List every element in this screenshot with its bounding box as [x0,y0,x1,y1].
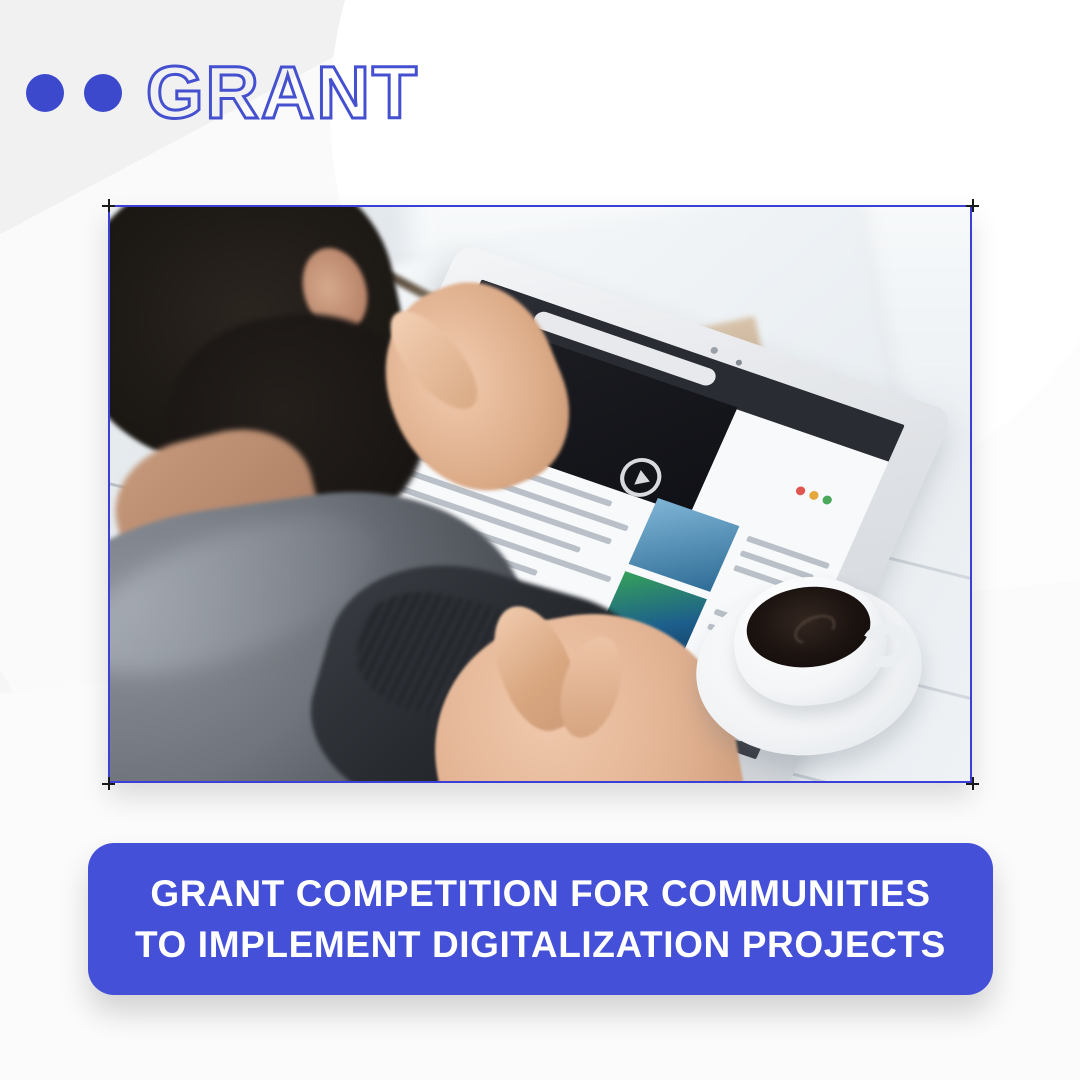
logo-dot-icon [26,74,64,112]
resize-handle-top-left[interactable] [102,199,115,212]
coffee-liquid [743,581,875,674]
logo-dots-icon [26,74,122,112]
coffee-swirl [789,609,840,651]
photo-image[interactable] [108,205,972,783]
resize-handle-top-right[interactable] [966,199,979,212]
headline-line-1: GRANT COMPETITION FOR COMMUNITIES [150,870,930,917]
photo-frame[interactable] [108,205,972,783]
play-icon [614,453,668,503]
tablet-camera-icon [709,346,718,355]
logo-wordmark: GRANT [146,56,419,130]
headline-line-2: TO IMPLEMENT DIGITALIZATION PROJECTS [135,921,946,968]
resize-handle-bottom-right[interactable] [966,777,979,790]
resize-handle-bottom-left[interactable] [102,777,115,790]
photo-scene [108,205,972,783]
brand-logo[interactable]: GRANT [26,56,419,130]
headline-banner[interactable]: GRANT COMPETITION FOR COMMUNITIES TO IMP… [88,843,993,995]
screen-text-line [746,536,830,570]
tablet-sensor-icon [735,359,743,366]
screen-status-dots-icon [795,485,834,505]
logo-dot-icon [84,74,122,112]
